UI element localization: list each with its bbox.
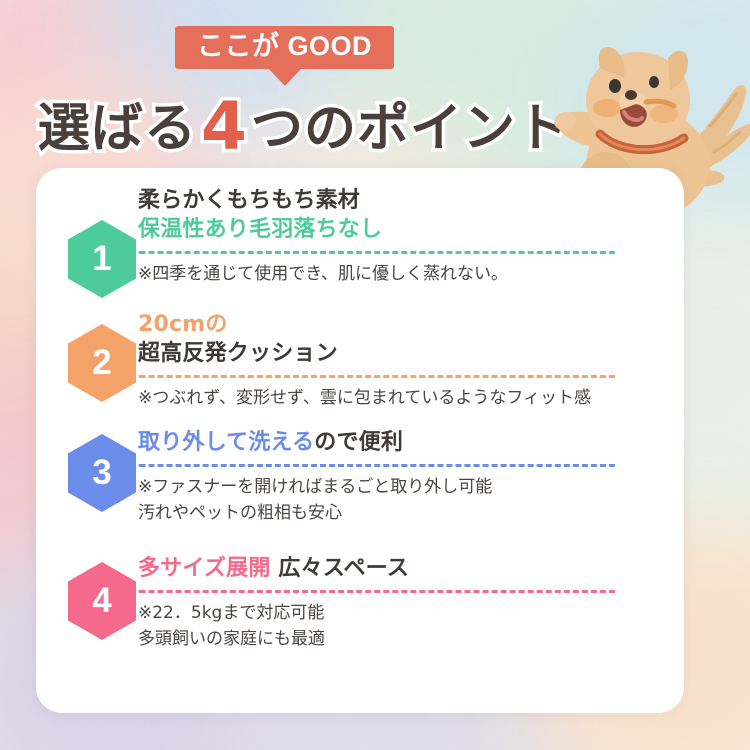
title-number: 4 bbox=[197, 88, 251, 165]
point-body-1: 柔らかくもちもち素材 保温性あり毛羽落ちなし ※四季を通じて使用でき、肌に優しく… bbox=[138, 186, 650, 287]
divider-4 bbox=[138, 590, 616, 593]
point-number-hexagon-2: 2 bbox=[68, 324, 136, 402]
point-body-3: 取り外して洗えるので便利 ※ファスナーを開ければまるごと取り外し可能 汚れやペッ… bbox=[138, 428, 650, 527]
point-title-1b: 保温性あり毛羽落ちなし bbox=[138, 215, 650, 244]
point-number-hexagon-3: 3 bbox=[68, 434, 136, 512]
divider-1 bbox=[138, 251, 616, 254]
divider-2 bbox=[138, 375, 616, 378]
point-note-3b: 汚れやペットの粗相も安心 bbox=[138, 500, 650, 526]
title-suffix: つのポイント bbox=[251, 99, 569, 159]
point-title-3: 取り外して洗えるので便利 bbox=[138, 428, 650, 457]
point-note-4b: 多頭飼いの家庭にも最適 bbox=[138, 626, 650, 652]
point-number-hexagon-1: 1 bbox=[68, 220, 136, 298]
point-number-4: 4 bbox=[92, 583, 111, 620]
point-note-4a: ※22．5kgまで対応可能 bbox=[138, 600, 650, 626]
divider-3 bbox=[138, 464, 616, 467]
point-body-4: 多サイズ展開 広々スペース ※22．5kgまで対応可能 多頭飼いの家庭にも最適 bbox=[138, 554, 650, 653]
point-title-3-rest: ので便利 bbox=[314, 430, 403, 455]
point-title-2b: 超高反発クッション bbox=[138, 339, 650, 368]
point-title-2a: 20cmの bbox=[138, 310, 650, 339]
point-title-3-accent: 取り外して洗える bbox=[138, 430, 314, 455]
good-badge: ここが GOOD bbox=[175, 26, 394, 69]
point-title-4-accent: 多サイズ展開 bbox=[138, 556, 271, 581]
point-title-1a: 柔らかくもちもち素材 bbox=[138, 186, 650, 215]
point-number-3: 3 bbox=[92, 455, 111, 492]
point-title-4: 多サイズ展開 広々スペース bbox=[138, 554, 650, 583]
title-prefix: 選ばる bbox=[38, 99, 197, 159]
good-badge-label: ここが GOOD bbox=[175, 26, 394, 69]
point-body-2: 20cmの 超高反発クッション ※つぶれず、変形せず、雲に包まれているようなフィ… bbox=[138, 310, 650, 411]
point-note-1: ※四季を通じて使用でき、肌に優しく蒸れない。 bbox=[138, 261, 650, 287]
point-note-3a: ※ファスナーを開ければまるごと取り外し可能 bbox=[138, 474, 650, 500]
point-number-2: 2 bbox=[92, 345, 111, 382]
point-number-hexagon-4: 4 bbox=[68, 562, 136, 640]
page-title: 選ばる4つのポイント bbox=[38, 94, 598, 160]
point-note-2: ※つぶれず、変形せず、雲に包まれているようなフィット感 bbox=[138, 385, 650, 411]
point-title-4-rest: 広々スペース bbox=[278, 556, 409, 581]
points-card: 1 柔らかくもちもち素材 保温性あり毛羽落ちなし ※四季を通じて使用でき、肌に優… bbox=[36, 168, 684, 713]
badge-pointer-icon bbox=[268, 68, 302, 86]
infographic-canvas: ここが GOOD 選ばる4つのポイント bbox=[0, 0, 750, 750]
point-number-1: 1 bbox=[92, 241, 111, 278]
